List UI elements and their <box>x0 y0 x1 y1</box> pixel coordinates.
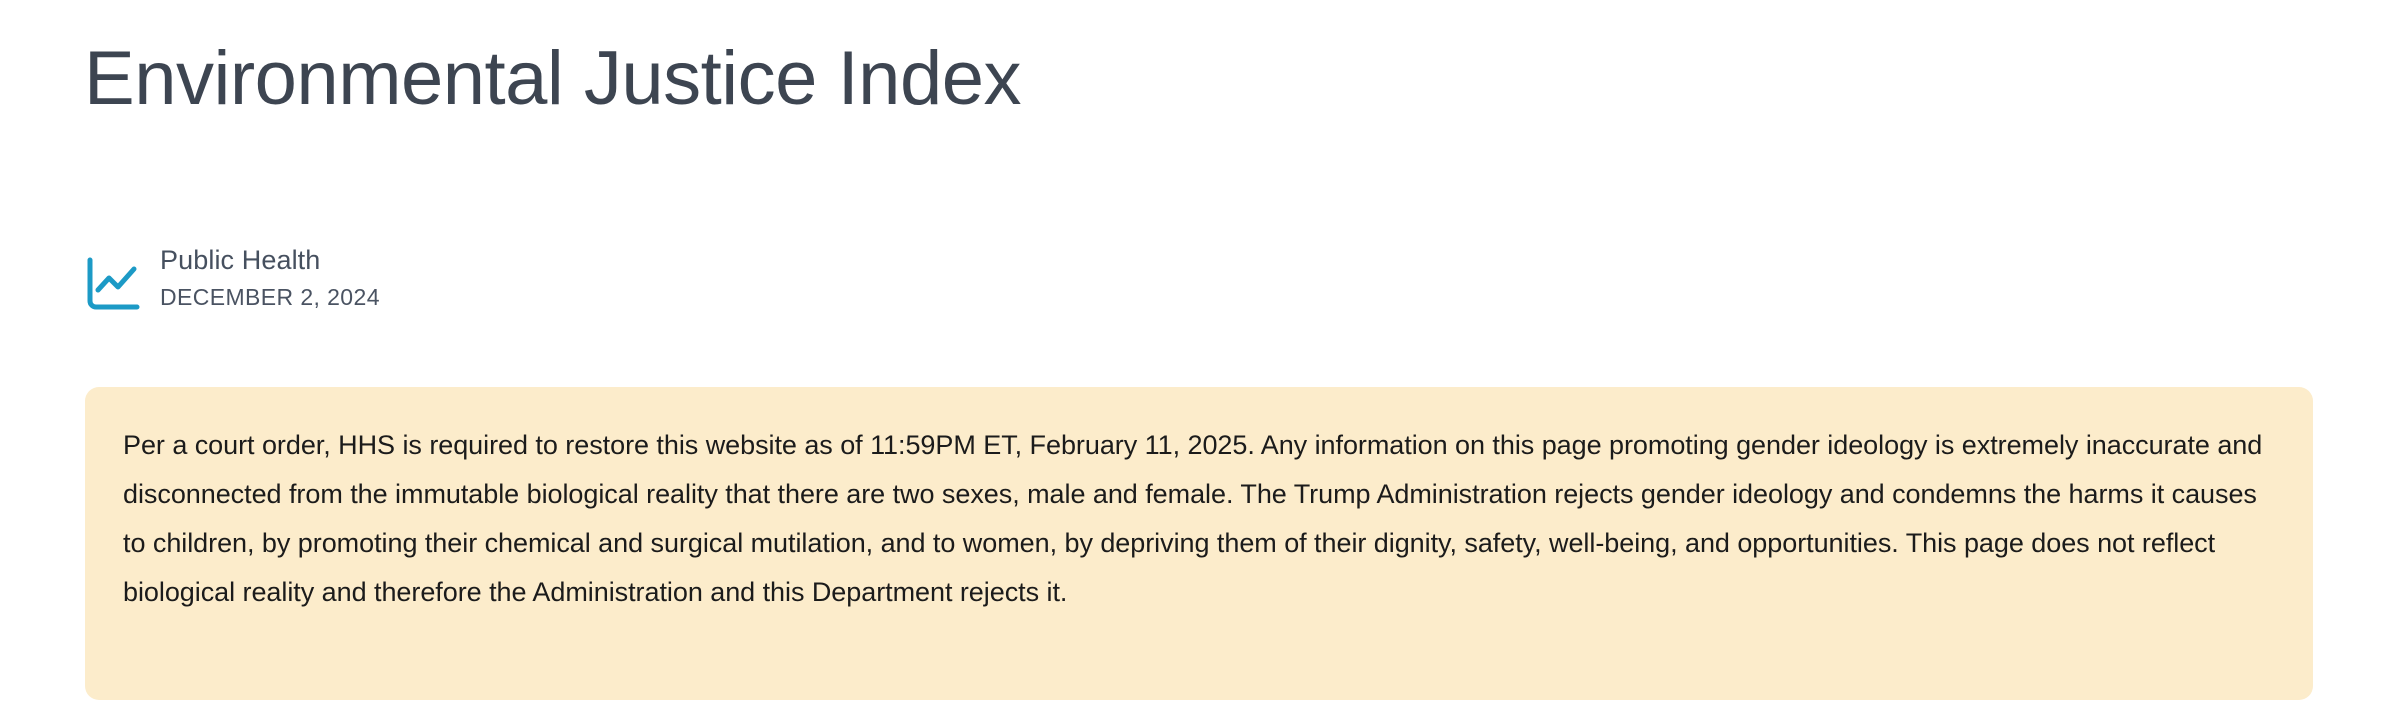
article-meta-text: Public Health DECEMBER 2, 2024 <box>160 243 380 311</box>
article-meta: Public Health DECEMBER 2, 2024 <box>84 243 380 314</box>
court-order-notice-banner: Per a court order, HHS is required to re… <box>85 387 2313 700</box>
page-title: Environmental Justice Index <box>84 33 1021 125</box>
article-date: DECEMBER 2, 2024 <box>160 283 380 311</box>
article-category[interactable]: Public Health <box>160 243 380 277</box>
line-chart-icon <box>84 254 140 314</box>
page-root: Environmental Justice Index Public Healt… <box>0 0 2406 728</box>
court-order-notice-text: Per a court order, HHS is required to re… <box>123 421 2275 617</box>
